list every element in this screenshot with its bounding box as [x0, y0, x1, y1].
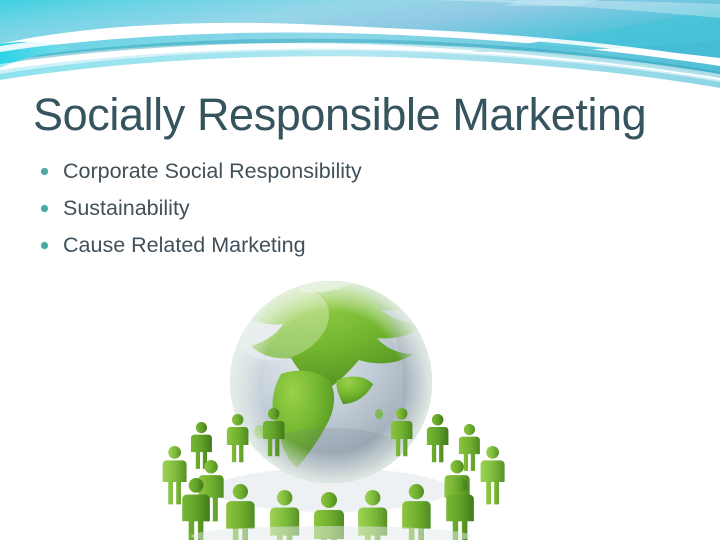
- slide-title: Socially Responsible Marketing: [33, 88, 693, 144]
- list-item: Sustainability: [36, 195, 636, 221]
- dot-bullet-icon: [41, 205, 48, 212]
- list-item: Corporate Social Responsibility: [36, 158, 636, 184]
- list-item-label: Corporate Social Responsibility: [63, 159, 362, 183]
- green-globe-with-people-ring-image: [141, 264, 520, 540]
- presentation-slide: Socially Responsible Marketing Corporate…: [0, 0, 720, 540]
- list-item: Cause Related Marketing: [36, 232, 636, 258]
- bullet-list: Corporate Social Responsibility Sustaina…: [36, 158, 636, 269]
- dot-bullet-icon: [41, 168, 48, 175]
- list-item-label: Cause Related Marketing: [63, 233, 306, 257]
- list-item-label: Sustainability: [63, 196, 190, 220]
- header-wave-band: [0, 0, 720, 92]
- dot-bullet-icon: [41, 242, 48, 249]
